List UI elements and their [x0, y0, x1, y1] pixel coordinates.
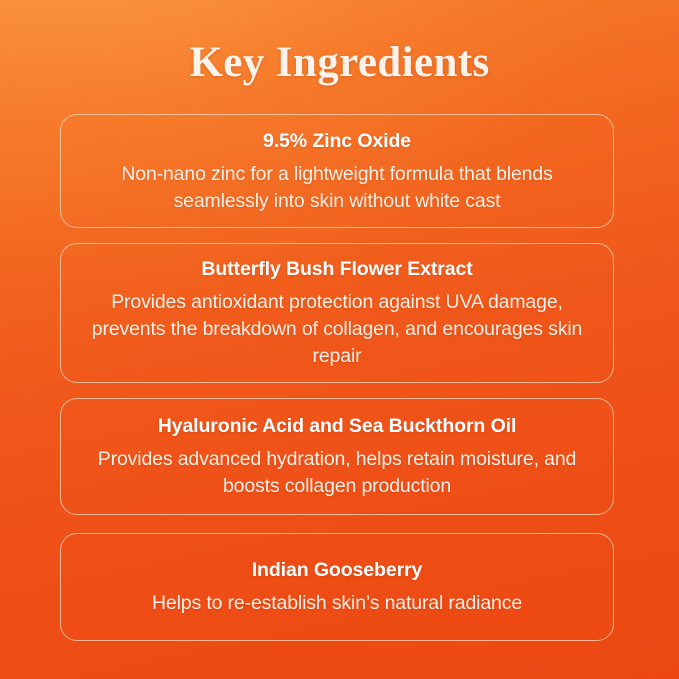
- ingredient-card-description: Non-nano zinc for a lightweight formula …: [81, 161, 593, 215]
- ingredient-card-indian-gooseberry: Indian Gooseberry Helps to re-establish …: [60, 533, 614, 641]
- ingredient-card-description: Provides advanced hydration, helps retai…: [81, 446, 593, 500]
- ingredient-card-butterfly-bush-flower-extract: Butterfly Bush Flower Extract Provides a…: [60, 243, 614, 383]
- ingredients-poster: Key Ingredients 9.5% Zinc Oxide Non-nano…: [0, 0, 679, 679]
- ingredient-card-heading: 9.5% Zinc Oxide: [263, 128, 411, 154]
- ingredient-card-description: Helps to re-establish skin’s natural rad…: [152, 590, 522, 617]
- ingredient-card-zinc-oxide: 9.5% Zinc Oxide Non-nano zinc for a ligh…: [60, 114, 614, 228]
- ingredient-card-heading: Butterfly Bush Flower Extract: [201, 256, 472, 282]
- ingredient-card-hyaluronic-acid-sea-buckthorn-oil: Hyaluronic Acid and Sea Buckthorn Oil Pr…: [60, 398, 614, 515]
- ingredient-card-description: Provides antioxidant protection against …: [81, 289, 593, 370]
- poster-content: Key Ingredients 9.5% Zinc Oxide Non-nano…: [0, 0, 679, 679]
- page-title: Key Ingredients: [0, 38, 679, 88]
- ingredient-card-heading: Hyaluronic Acid and Sea Buckthorn Oil: [158, 413, 517, 439]
- ingredient-card-heading: Indian Gooseberry: [252, 557, 423, 583]
